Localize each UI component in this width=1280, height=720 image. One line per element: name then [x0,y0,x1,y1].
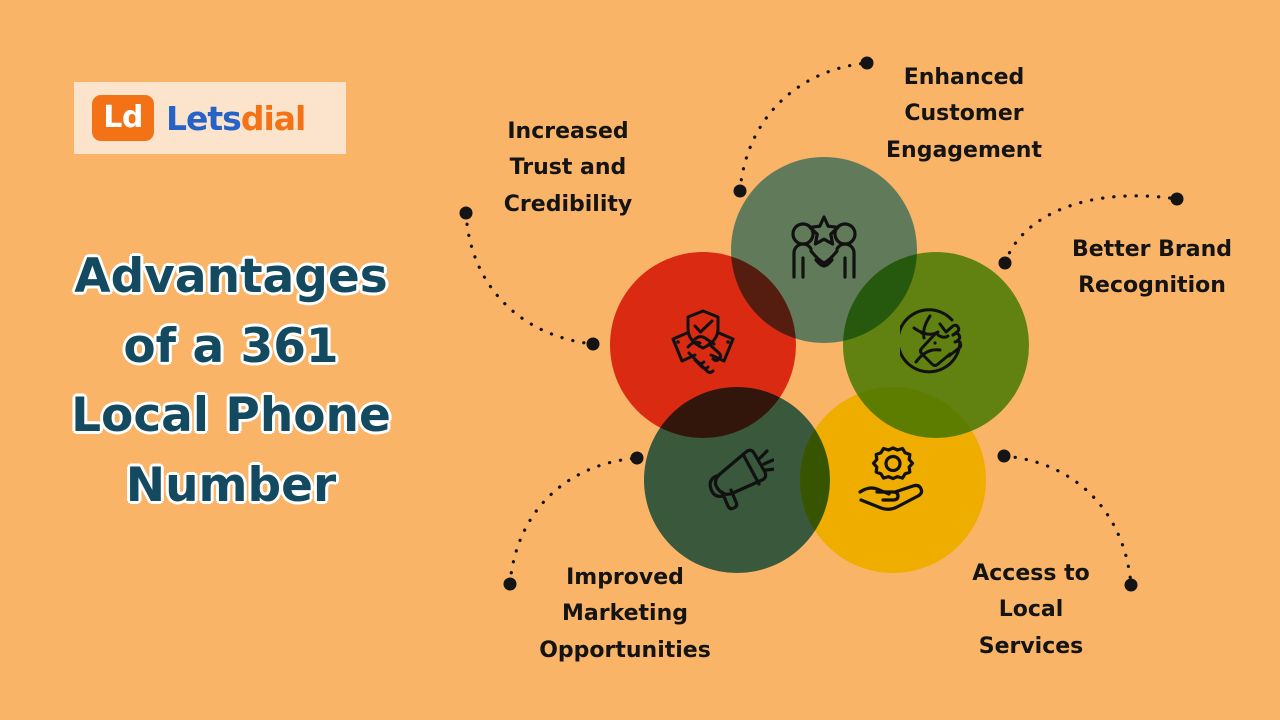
hand-gear-icon [847,433,939,525]
label-access-local-services: Access to Local Services [940,556,1122,665]
label-line: Credibility [472,187,664,223]
globe-handshake-icon [890,298,982,390]
label-line: Recognition [1040,268,1264,304]
label-line: Trust and [472,150,664,186]
label-line: Better Brand [1040,232,1264,268]
label-increased-trust: Increased Trust and Credibility [472,114,664,223]
label-line: Improved [520,560,730,596]
megaphone-icon [691,433,783,525]
label-line: Enhanced [862,60,1066,96]
label-line: Local [940,592,1122,628]
label-line: Increased [472,114,664,150]
label-line: Services [940,629,1122,665]
handshake-shield-check-icon [657,298,749,390]
label-line: Marketing [520,596,730,632]
label-line: Access to [940,556,1122,592]
label-line: Opportunities [520,633,730,669]
label-line: Customer [862,96,1066,132]
label-improved-marketing: Improved Marketing Opportunities [520,560,730,669]
label-better-brand-recognition: Better Brand Recognition [1040,232,1264,305]
people-handshake-star-icon [778,203,870,295]
label-enhanced-engagement: Enhanced Customer Engagement [862,60,1066,169]
label-line: Engagement [862,133,1066,169]
infographic-canvas: Ld Letsdial Advantages of a 361 Local Ph… [0,0,1280,720]
